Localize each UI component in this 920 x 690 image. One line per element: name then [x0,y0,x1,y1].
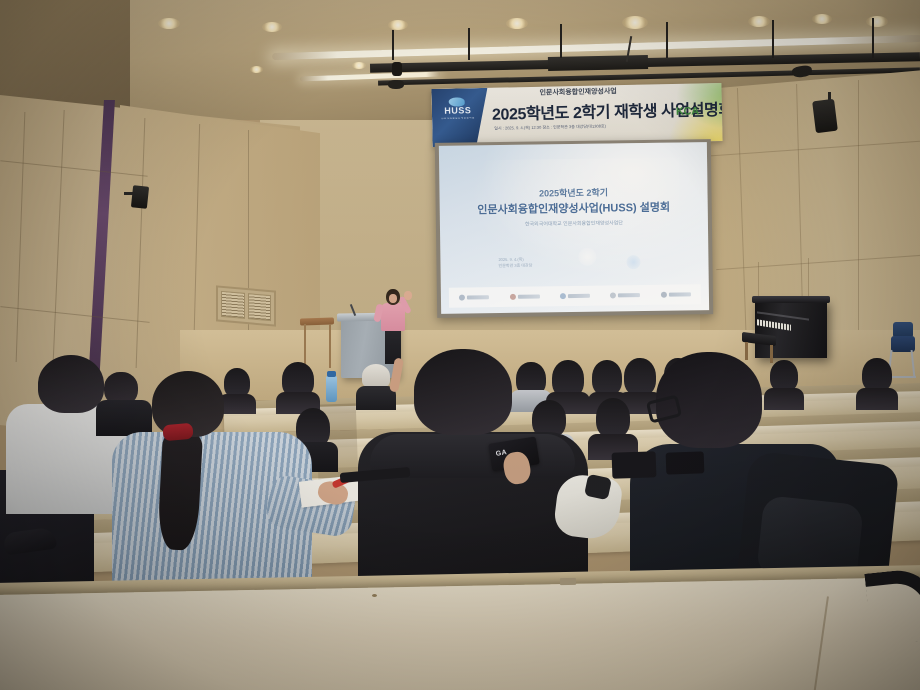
desk-item-dark [612,451,657,479]
vent-louver-left [221,291,245,319]
wall-panel-seam [248,130,249,360]
stage-spotlight-icon [392,62,402,76]
truss-drop-rod [392,30,394,60]
slide-partner-logo-bar [449,284,701,308]
partner-logo [560,293,590,299]
partner-logo [610,292,640,298]
desk-label-plate [560,578,576,585]
partner-logo-wordmark [618,293,640,297]
slide-footnote: 2025. 9. 4.(목) 인문학관 3층 대강당 [498,257,532,269]
side-table-leg [304,324,306,368]
projection-screen-frame: 2025학년도 2학기 인문사회융합인재양성사업(HUSS) 설명회 한국외국어… [435,139,713,318]
huss-logo: HUSS 인문사회융합인재양성사업 [438,106,478,120]
audience-head [624,358,656,396]
downlight-icon [250,66,263,73]
downlight-icon [812,14,832,24]
chair-leg [888,376,916,378]
banner-logo-panel: HUSS 인문사회융합인재양성사업 [431,88,488,147]
partner-logo-mark [610,292,616,298]
desk-cable-grommet [372,594,377,597]
presenter-hand [404,291,412,300]
water-bottle [326,376,337,402]
bench-leg [745,342,748,360]
huss-logo-text: HUSS [438,106,478,116]
wall-speaker-icon [812,99,838,133]
downlight-icon [158,18,180,29]
downlight-icon [506,18,528,29]
bottle-cap [327,371,336,377]
audience-hoodie-head [414,349,512,435]
vent-louver-right [248,293,272,321]
piano-lid [752,296,830,303]
truss-drop-rod [560,24,562,58]
partner-logo-mark [509,294,515,300]
audience-torso [856,388,898,410]
downlight-icon [748,16,770,27]
downlight-icon [262,22,282,32]
truss-box [548,55,648,71]
partner-logo-wordmark [517,294,539,298]
partner-logo-mark [560,293,566,299]
huss-logo-subtext: 인문사회융합인재양성사업 [438,117,478,120]
partner-logo-wordmark [467,295,489,299]
side-table-leg [329,324,331,368]
downlight-icon [388,20,408,30]
slide-bokeh [626,255,640,269]
truss-drop-rod [666,22,668,58]
partner-logo-mark [661,292,667,298]
partner-logo-wordmark [669,292,691,296]
stage-spotlight-icon [388,80,404,89]
downlight-icon [622,16,648,29]
chair-armrest [864,566,920,646]
audience-neighbor-torso [96,400,152,436]
air-vent-grille [216,285,276,326]
truss-drop-rod [772,20,774,58]
lecture-hall-photo: HUSS 인문사회융합인재양성사업 인문사회융합인재양성사업 2025학년도 2… [0,0,920,690]
audience-head [596,398,630,438]
partner-logo-mark [459,295,465,301]
event-banner: HUSS 인문사회융합인재양성사업 인문사회융합인재양성사업 2025학년도 2… [431,83,722,147]
partner-logo [661,291,691,297]
slide-title-line2: 인문사회융합인재양성사업(HUSS) 설명회 [440,198,708,218]
audience-torso [764,388,804,410]
hair-scrunchie [162,423,193,442]
huss-logo-emblem [449,97,465,106]
audience-white-tshirt-head [38,355,104,413]
truss-drop-rod [468,28,470,60]
audience-head [592,360,622,396]
presenter-torso [381,303,405,331]
kca-logo: KCA [676,105,699,117]
jacket-dark-panel [584,474,612,501]
partner-logo [459,294,489,300]
truss-drop-rod [872,18,874,58]
downlight-icon [352,62,366,69]
downlight-icon [866,16,888,27]
partner-logo [509,293,539,299]
presenter-face [389,294,397,303]
audience-head [862,358,892,392]
foreground-desk [0,577,920,690]
bench-leg [770,345,773,363]
audience-head-capped [362,364,390,388]
desk-item-dark [666,451,705,474]
slide-subtitle: 한국외국어대학교 인문사회융합인재양성사업단 [440,218,708,229]
upright-piano [755,300,827,358]
banner-subtitle: 일시 : 2025. 9. 4.(목) 12:30 장소 : 인문학관 3층 대… [494,123,606,131]
wall-speaker-icon [131,185,149,209]
slide-bokeh [578,248,596,266]
partner-logo-wordmark [568,294,590,298]
banner-top-text: 인문사회융합인재양성사업 [539,86,616,98]
projection-screen: 2025학년도 2학기 인문사회융합인재양성사업(HUSS) 설명회 한국외국어… [439,142,709,314]
